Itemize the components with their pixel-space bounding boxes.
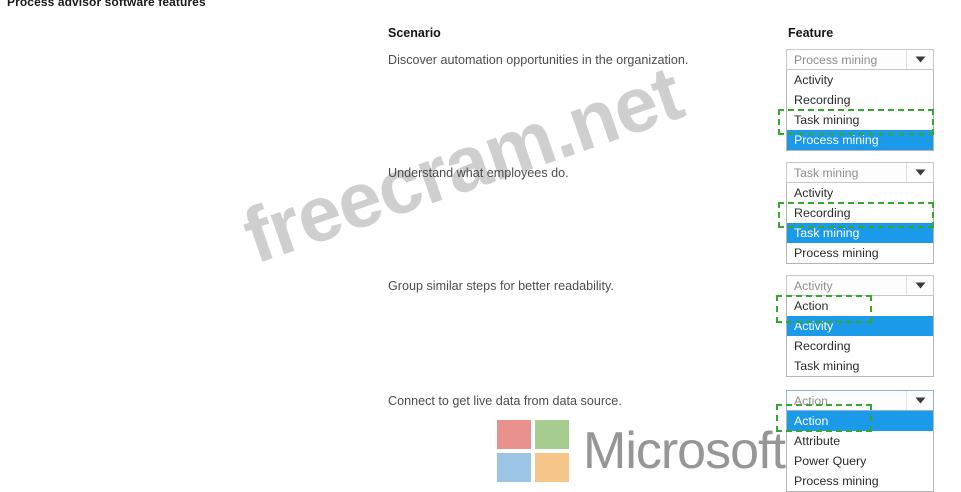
chevron-down-icon[interactable] [906,50,933,69]
feature-dropdown-3[interactable]: Activity Action Activity Recording Task … [786,275,934,377]
brand-watermark: Microsoft [497,420,785,482]
scenario-text: Discover automation opportunities in the… [388,53,688,67]
dropdown-option-selected[interactable]: Action [787,411,933,431]
column-header-scenario: Scenario [388,26,441,40]
combo-box[interactable]: Action [786,390,934,411]
site-watermark: freecram.net [232,47,693,282]
dropdown-option[interactable]: Action [787,296,933,316]
combo-selected-value: Action [787,394,906,408]
logo-square-green [535,420,569,449]
dropdown-option[interactable]: Task mining [787,356,933,376]
brand-watermark-text: Microsoft [583,425,785,477]
combo-box[interactable]: Task mining [786,162,934,183]
feature-dropdown-2[interactable]: Task mining Activity Recording Task mini… [786,162,934,264]
dropdown-option[interactable]: Recording [787,203,933,223]
combo-selected-value: Activity [787,279,906,293]
chevron-down-icon[interactable] [906,276,933,295]
scenario-text: Connect to get live data from data sourc… [388,394,622,408]
combo-box[interactable]: Process mining [786,49,934,70]
dropdown-options-list[interactable]: Activity Recording Task mining Process m… [786,70,934,151]
combo-box[interactable]: Activity [786,275,934,296]
logo-square-orange [535,453,569,482]
page-title: Process advisor software features [7,0,206,9]
combo-selected-value: Task mining [787,166,906,180]
dropdown-options-list[interactable]: Action Activity Recording Task mining [786,296,934,377]
combo-selected-value: Process mining [787,53,906,67]
chevron-down-icon[interactable] [906,391,933,410]
scenario-text: Understand what employees do. [388,166,569,180]
dropdown-option[interactable]: Recording [787,336,933,356]
dropdown-option[interactable]: Process mining [787,471,933,491]
dropdown-option[interactable]: Attribute [787,431,933,451]
logo-square-blue [497,453,531,482]
dropdown-option[interactable]: Activity [787,183,933,203]
dropdown-option-selected[interactable]: Task mining [787,223,933,243]
dropdown-option[interactable]: Recording [787,90,933,110]
dropdown-options-list[interactable]: Action Attribute Power Query Process min… [786,411,934,492]
dropdown-options-list[interactable]: Activity Recording Task mining Process m… [786,183,934,264]
dropdown-option[interactable]: Process mining [787,243,933,263]
feature-dropdown-4[interactable]: Action Action Attribute Power Query Proc… [786,390,934,492]
microsoft-logo-icon [497,420,569,482]
logo-square-red [497,420,531,449]
feature-dropdown-1[interactable]: Process mining Activity Recording Task m… [786,49,934,151]
dropdown-option[interactable]: Power Query [787,451,933,471]
dropdown-option-selected[interactable]: Process mining [787,130,933,150]
column-header-feature: Feature [788,26,833,40]
chevron-down-icon[interactable] [906,163,933,182]
dropdown-option[interactable]: Activity [787,70,933,90]
dropdown-option-selected[interactable]: Activity [787,316,933,336]
scenario-text: Group similar steps for better readabili… [388,279,614,293]
dropdown-option[interactable]: Task mining [787,110,933,130]
